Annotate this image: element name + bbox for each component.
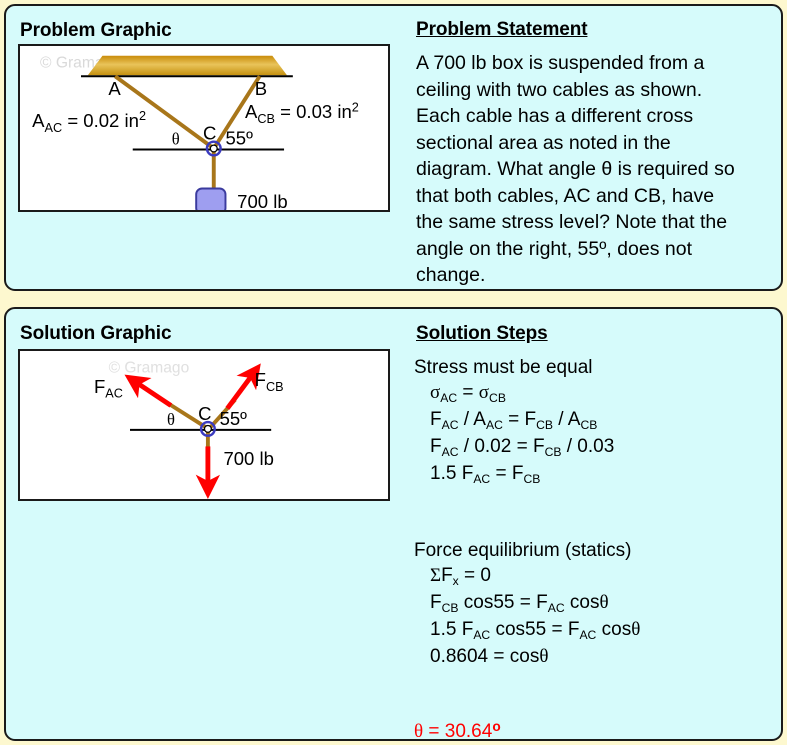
step-eq-cos-value: 0.8604 = cosθ xyxy=(414,644,782,669)
label-force-ac: FAC xyxy=(94,376,123,401)
statement-line: the same stress level? Note that the xyxy=(416,209,780,236)
label-load-700lb: 700 lb xyxy=(223,448,273,469)
solution-graphic-heading: Solution Graphic xyxy=(20,323,171,345)
label-force-cb: FCB xyxy=(255,369,284,394)
step-eq-sigma: σAC = σCB xyxy=(414,380,782,407)
problem-figure: © Gramago A B C θ 55º AAC = 0.0 xyxy=(18,44,390,212)
force-ac-arrow xyxy=(136,382,171,405)
solution-panel: Solution Graphic © Gramago xyxy=(4,307,783,741)
step-eq-cos-2: 1.5 FAC cos55 = FAC cosθ xyxy=(414,617,782,644)
problem-graphic-heading: Problem Graphic xyxy=(20,20,172,42)
statement-line: angle on the right, 55º, does not xyxy=(416,236,780,263)
steps-spacer xyxy=(414,694,782,719)
step-eq-cos-1: FCB cos55 = FAC cosθ xyxy=(414,590,782,617)
statement-line: change. xyxy=(416,262,780,289)
label-load-700lb: 700 lb xyxy=(237,191,288,210)
solution-answer: θ = 30.64o xyxy=(414,719,782,745)
problem-panel: Problem Graphic © Gramago xyxy=(4,4,783,291)
steps-spacer xyxy=(414,669,782,694)
watermark-text: © Gramago xyxy=(109,359,190,376)
label-a: A xyxy=(108,78,121,99)
solution-steps-heading: Solution Steps xyxy=(416,323,548,345)
statement-line: sectional area as noted in the xyxy=(416,130,780,157)
steps-spacer xyxy=(414,513,782,538)
problem-statement-text: A 700 lb box is suspended from a ceiling… xyxy=(416,50,780,289)
statement-line: ceiling with two cables as shown. xyxy=(416,77,780,104)
step-heading-stress: Stress must be equal xyxy=(414,355,782,380)
label-theta: θ xyxy=(167,410,175,429)
force-cb-arrow xyxy=(227,374,252,408)
step-heading-equilibrium: Force equilibrium (statics) xyxy=(414,538,782,563)
step-eq-force-num: FAC / 0.02 = FCB / 0.03 xyxy=(414,434,782,461)
label-theta: θ xyxy=(172,130,180,149)
label-c: C xyxy=(203,123,216,144)
pin-center xyxy=(204,425,211,432)
statement-line: diagram. What angle θ is required so xyxy=(416,156,780,183)
label-area-cb: ACB = 0.03 in2 xyxy=(245,100,359,126)
statement-line: that both cables, AC and CB, have xyxy=(416,183,780,210)
solution-figure: © Gramago FAC FCB C θ 55º 700 l xyxy=(18,349,390,501)
label-angle-55: 55º xyxy=(220,408,248,429)
step-eq-sum-fx: ΣFx = 0 xyxy=(414,563,782,590)
label-angle-55: 55º xyxy=(225,128,253,149)
label-area-ac: AAC = 0.02 in2 xyxy=(32,109,146,135)
statement-line: A 700 lb box is suspended from a xyxy=(416,50,780,77)
label-c: C xyxy=(198,403,211,424)
problem-diagram: © Gramago A B C θ 55º AAC = 0.0 xyxy=(20,46,388,210)
label-b: B xyxy=(255,78,267,99)
solution-steps-text: Stress must be equal σAC = σCB FAC / AAC… xyxy=(414,355,782,745)
solution-diagram: © Gramago FAC FCB C θ 55º 700 l xyxy=(20,351,388,499)
suspended-box xyxy=(196,189,225,210)
statement-line: Each cable has a different cross xyxy=(416,103,780,130)
step-eq-ratio: 1.5 FAC = FCB xyxy=(414,461,782,488)
step-eq-force-area: FAC / AAC = FCB / ACB xyxy=(414,407,782,434)
pin-center xyxy=(210,145,217,152)
ceiling-block xyxy=(88,56,287,76)
problem-statement-heading: Problem Statement xyxy=(416,19,587,41)
steps-spacer xyxy=(414,488,782,513)
